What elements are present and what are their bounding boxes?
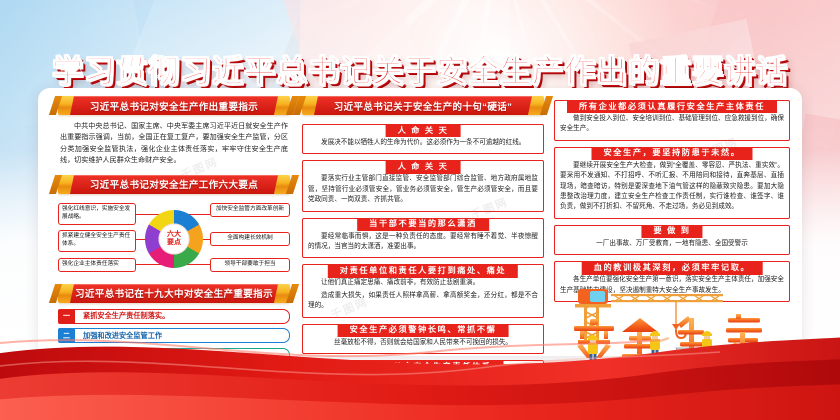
quote-caption: 对责任单位和责任人要打到痛处、痛处: [328, 264, 518, 277]
six-point-left-1: 强化红线意识，实施安全发展战略。: [58, 203, 136, 225]
quote-body: 让他们真正痛定思痛、痛改前非，有效防止悲剧重演。: [308, 278, 538, 288]
quote-body: 要经常临事而惧，这是一种负责任的态度。要经常有睡不着觉、半夜惊醒的情况，当官当的…: [308, 232, 538, 253]
quote-body: 一厂出事故、万厂受教育，一地有隐患、全国受警示: [560, 239, 784, 249]
six-point-right-3: 领导干部要敢于担当: [210, 258, 290, 273]
six-points-diagram: 六大要点 强化红线意识，实施安全发展战略。 抓紧建立健全安全生产责任体系。 强化…: [58, 200, 290, 278]
quote-caption: 当干部不要当的那么潇洒: [357, 218, 489, 231]
left-section2-heading: 习近平总书记对安全生产工作六大要点: [58, 175, 290, 194]
quote-block: 人 命 关 天 要落实行业主管部门直接监管、安全监管部门综合监管、地方政府属地监…: [302, 160, 544, 211]
quote-body: 发展决不能以牺牲人的生命为代价。这必须作为一条不可逾越的红线。: [308, 138, 538, 148]
quote-block: 安全生产，要坚持防患于未然。 要继续开展安全生产大检查，做到“全覆盖、零容忍、严…: [554, 147, 790, 219]
six-point-left-3: 强化企业主体责任落实: [58, 258, 136, 273]
quote-body: 做到安全投入到位、安全培训到位、基础管理到位、应急救援到位，确保安全生产。: [560, 114, 784, 135]
poster-canvas: 学习贯彻习近平总书记关于安全生产作出的重要讲话 习近平总书记对安全生产作出重要指…: [0, 0, 840, 420]
page-title: 学习贯彻习近平总书记关于安全生产作出的重要讲话: [0, 46, 840, 91]
mid-heading: 习近平总书记关于安全生产的十句“硬话”: [302, 96, 544, 115]
six-point-left-2: 抓紧建立健全安全生产责任体系。: [58, 230, 136, 252]
left-section1-paragraph: 中共中央总书记、国家主席、中央军委主席习近平近日就安全生产作出重要指示强调，当前…: [60, 121, 288, 167]
quote-caption: 人 命 关 天: [386, 160, 461, 173]
quote-block: 人 命 关 天 发展决不能以牺牲人的生命为代价。这必须作为一条不可逾越的红线。: [302, 124, 544, 154]
six-point-right-1: 加快安全监管方面改革创新: [210, 203, 290, 218]
six-point-right-2: 全面构建长效机制: [210, 232, 290, 247]
quote-caption: 所有企业都必须认真履行安全生产主体责任: [567, 100, 777, 113]
bottom-ribbon: [0, 300, 840, 420]
mid-heading-text: 习近平总书记关于安全生产的十句“硬话”: [302, 96, 544, 115]
quote-body: 要落实行业主管部门直接监管、安全监管部门综合监管、地方政府属地监管，坚持管行业必…: [308, 174, 538, 205]
quote-caption: 要 做 到: [641, 225, 702, 238]
left-section1-heading-text: 习近平总书记对安全生产作出重要指示: [58, 96, 290, 115]
right-column: 所有企业都必须认真履行安全生产主体责任 做到安全投入到位、安全培训到位、基础管理…: [554, 100, 790, 308]
left-section2-heading-text: 习近平总书记对安全生产工作六大要点: [58, 175, 290, 194]
quote-caption: 血的教训极其深刻，必须牢牢记取。: [582, 261, 763, 274]
left-section1-heading: 习近平总书记对安全生产作出重要指示: [58, 96, 290, 115]
quote-block: 所有企业都必须认真履行安全生产主体责任 做到安全投入到位、安全培训到位、基础管理…: [554, 100, 790, 141]
quote-caption: 安全生产，要坚持防患于未然。: [591, 147, 752, 160]
six-points-center-label: 六大要点: [157, 231, 191, 247]
quote-caption: 人 命 关 天: [386, 124, 461, 137]
quote-block: 当干部不要当的那么潇洒 要经常临事而惧，这是一种负责任的态度。要经常有睡不着觉、…: [302, 218, 544, 259]
quote-body: 要继续开展安全生产大检查，做到“全覆盖、零容忍、严执法、重实效”。要采用不发通知…: [560, 161, 784, 213]
quote-block: 要 做 到 一厂出事故、万厂受教育，一地有隐患、全国受警示: [554, 225, 790, 255]
